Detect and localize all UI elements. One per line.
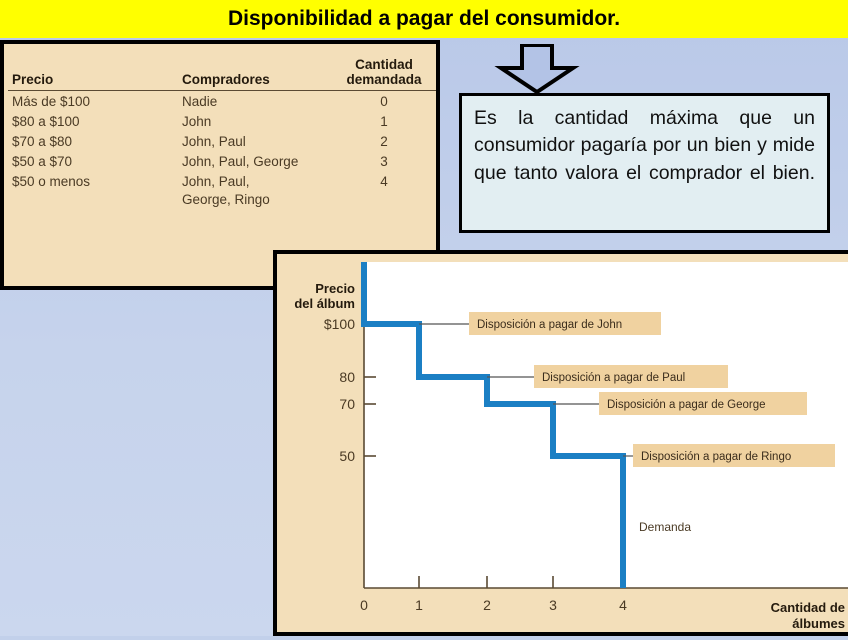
definition-callout-box: Es la cantidad máxima que un consumidor …	[459, 93, 830, 233]
cell-compradores: John, Paul, George	[182, 151, 332, 171]
cell-precio: $50 o menos	[8, 171, 182, 191]
annotation-label-george: Disposición a pagar de George	[607, 399, 766, 411]
demand-table: Precio Compradores Cantidad demandada Má…	[8, 58, 436, 210]
table-header: Precio Compradores Cantidad demandada	[8, 58, 436, 91]
y-tick-label-70: 70	[339, 396, 355, 412]
y-tick-label-100: $100	[324, 316, 355, 332]
table-body: Más de $100 Nadie 0 $80 a $100 John 1 $7…	[8, 91, 436, 210]
table-row-continuation: George, Ringo	[8, 191, 436, 210]
x-tick-label-2: 2	[483, 597, 491, 613]
plot-area-background	[364, 262, 848, 588]
y-tick-label-80: 80	[339, 369, 355, 385]
annotation-label-john: Disposición a pagar de John	[477, 319, 622, 331]
table-header-cantidad: Cantidad demandada	[332, 58, 436, 91]
cell-cantidad: 1	[332, 111, 436, 131]
x-axis-label-line2: álbumes	[792, 616, 845, 631]
x-tick-label-1: 1	[415, 597, 423, 613]
arrow-down-icon	[493, 44, 581, 94]
down-arrow-shape	[493, 44, 581, 94]
cell-precio	[8, 191, 182, 210]
y-tick-label-50: 50	[339, 448, 355, 464]
demand-curve-chart-panel: Precio del álbum $100 80 70 50 0 1 2 3	[273, 250, 848, 636]
table-header-precio: Precio	[8, 58, 182, 91]
annotation-label-paul: Disposición a pagar de Paul	[542, 372, 685, 384]
annotation-label-ringo: Disposición a pagar de Ringo	[641, 451, 791, 463]
table-row: $70 a $80 John, Paul 2	[8, 131, 436, 151]
table-row: Más de $100 Nadie 0	[8, 91, 436, 112]
table-row: $50 a $70 John, Paul, George 3	[8, 151, 436, 171]
cell-cantidad	[332, 191, 436, 210]
cell-compradores: John	[182, 111, 332, 131]
table-header-row: Precio Compradores Cantidad demandada	[8, 58, 436, 91]
demand-curve-chart: Precio del álbum $100 80 70 50 0 1 2 3	[277, 254, 848, 640]
cell-compradores: John, Paul,	[182, 171, 332, 191]
demand-table-wrapper: Precio Compradores Cantidad demandada Má…	[8, 58, 438, 210]
x-tick-label-4: 4	[619, 597, 627, 613]
y-axis-label-line2: del álbum	[294, 296, 355, 311]
table-header-compradores: Compradores	[182, 58, 332, 91]
cell-precio: $80 a $100	[8, 111, 182, 131]
cell-cantidad: 3	[332, 151, 436, 171]
cell-cantidad: 4	[332, 171, 436, 191]
cell-precio: $70 a $80	[8, 131, 182, 151]
page-title: Disponibilidad a pagar del consumidor.	[228, 7, 620, 31]
title-banner: Disponibilidad a pagar del consumidor.	[0, 0, 848, 38]
table-row: $80 a $100 John 1	[8, 111, 436, 131]
x-axis-label-line1: Cantidad de	[771, 600, 845, 615]
cell-compradores: John, Paul	[182, 131, 332, 151]
cell-compradores: Nadie	[182, 91, 332, 112]
table-header-cantidad-line2: demandada	[346, 72, 421, 87]
table-header-cantidad-line1: Cantidad	[355, 57, 413, 72]
slide-canvas: Disponibilidad a pagar del consumidor. P…	[0, 0, 848, 636]
x-tick-label-0: 0	[360, 597, 368, 613]
table-row: $50 o menos John, Paul, 4	[8, 171, 436, 191]
y-axis-label-line1: Precio	[315, 281, 355, 296]
cell-cantidad: 0	[332, 91, 436, 112]
cell-precio: Más de $100	[8, 91, 182, 112]
x-tick-label-3: 3	[549, 597, 557, 613]
definition-callout-text: Es la cantidad máxima que un consumidor …	[474, 105, 815, 214]
cell-precio: $50 a $70	[8, 151, 182, 171]
demand-curve-label: Demanda	[639, 520, 691, 534]
cell-cantidad: 2	[332, 131, 436, 151]
cell-compradores: George, Ringo	[182, 191, 332, 210]
